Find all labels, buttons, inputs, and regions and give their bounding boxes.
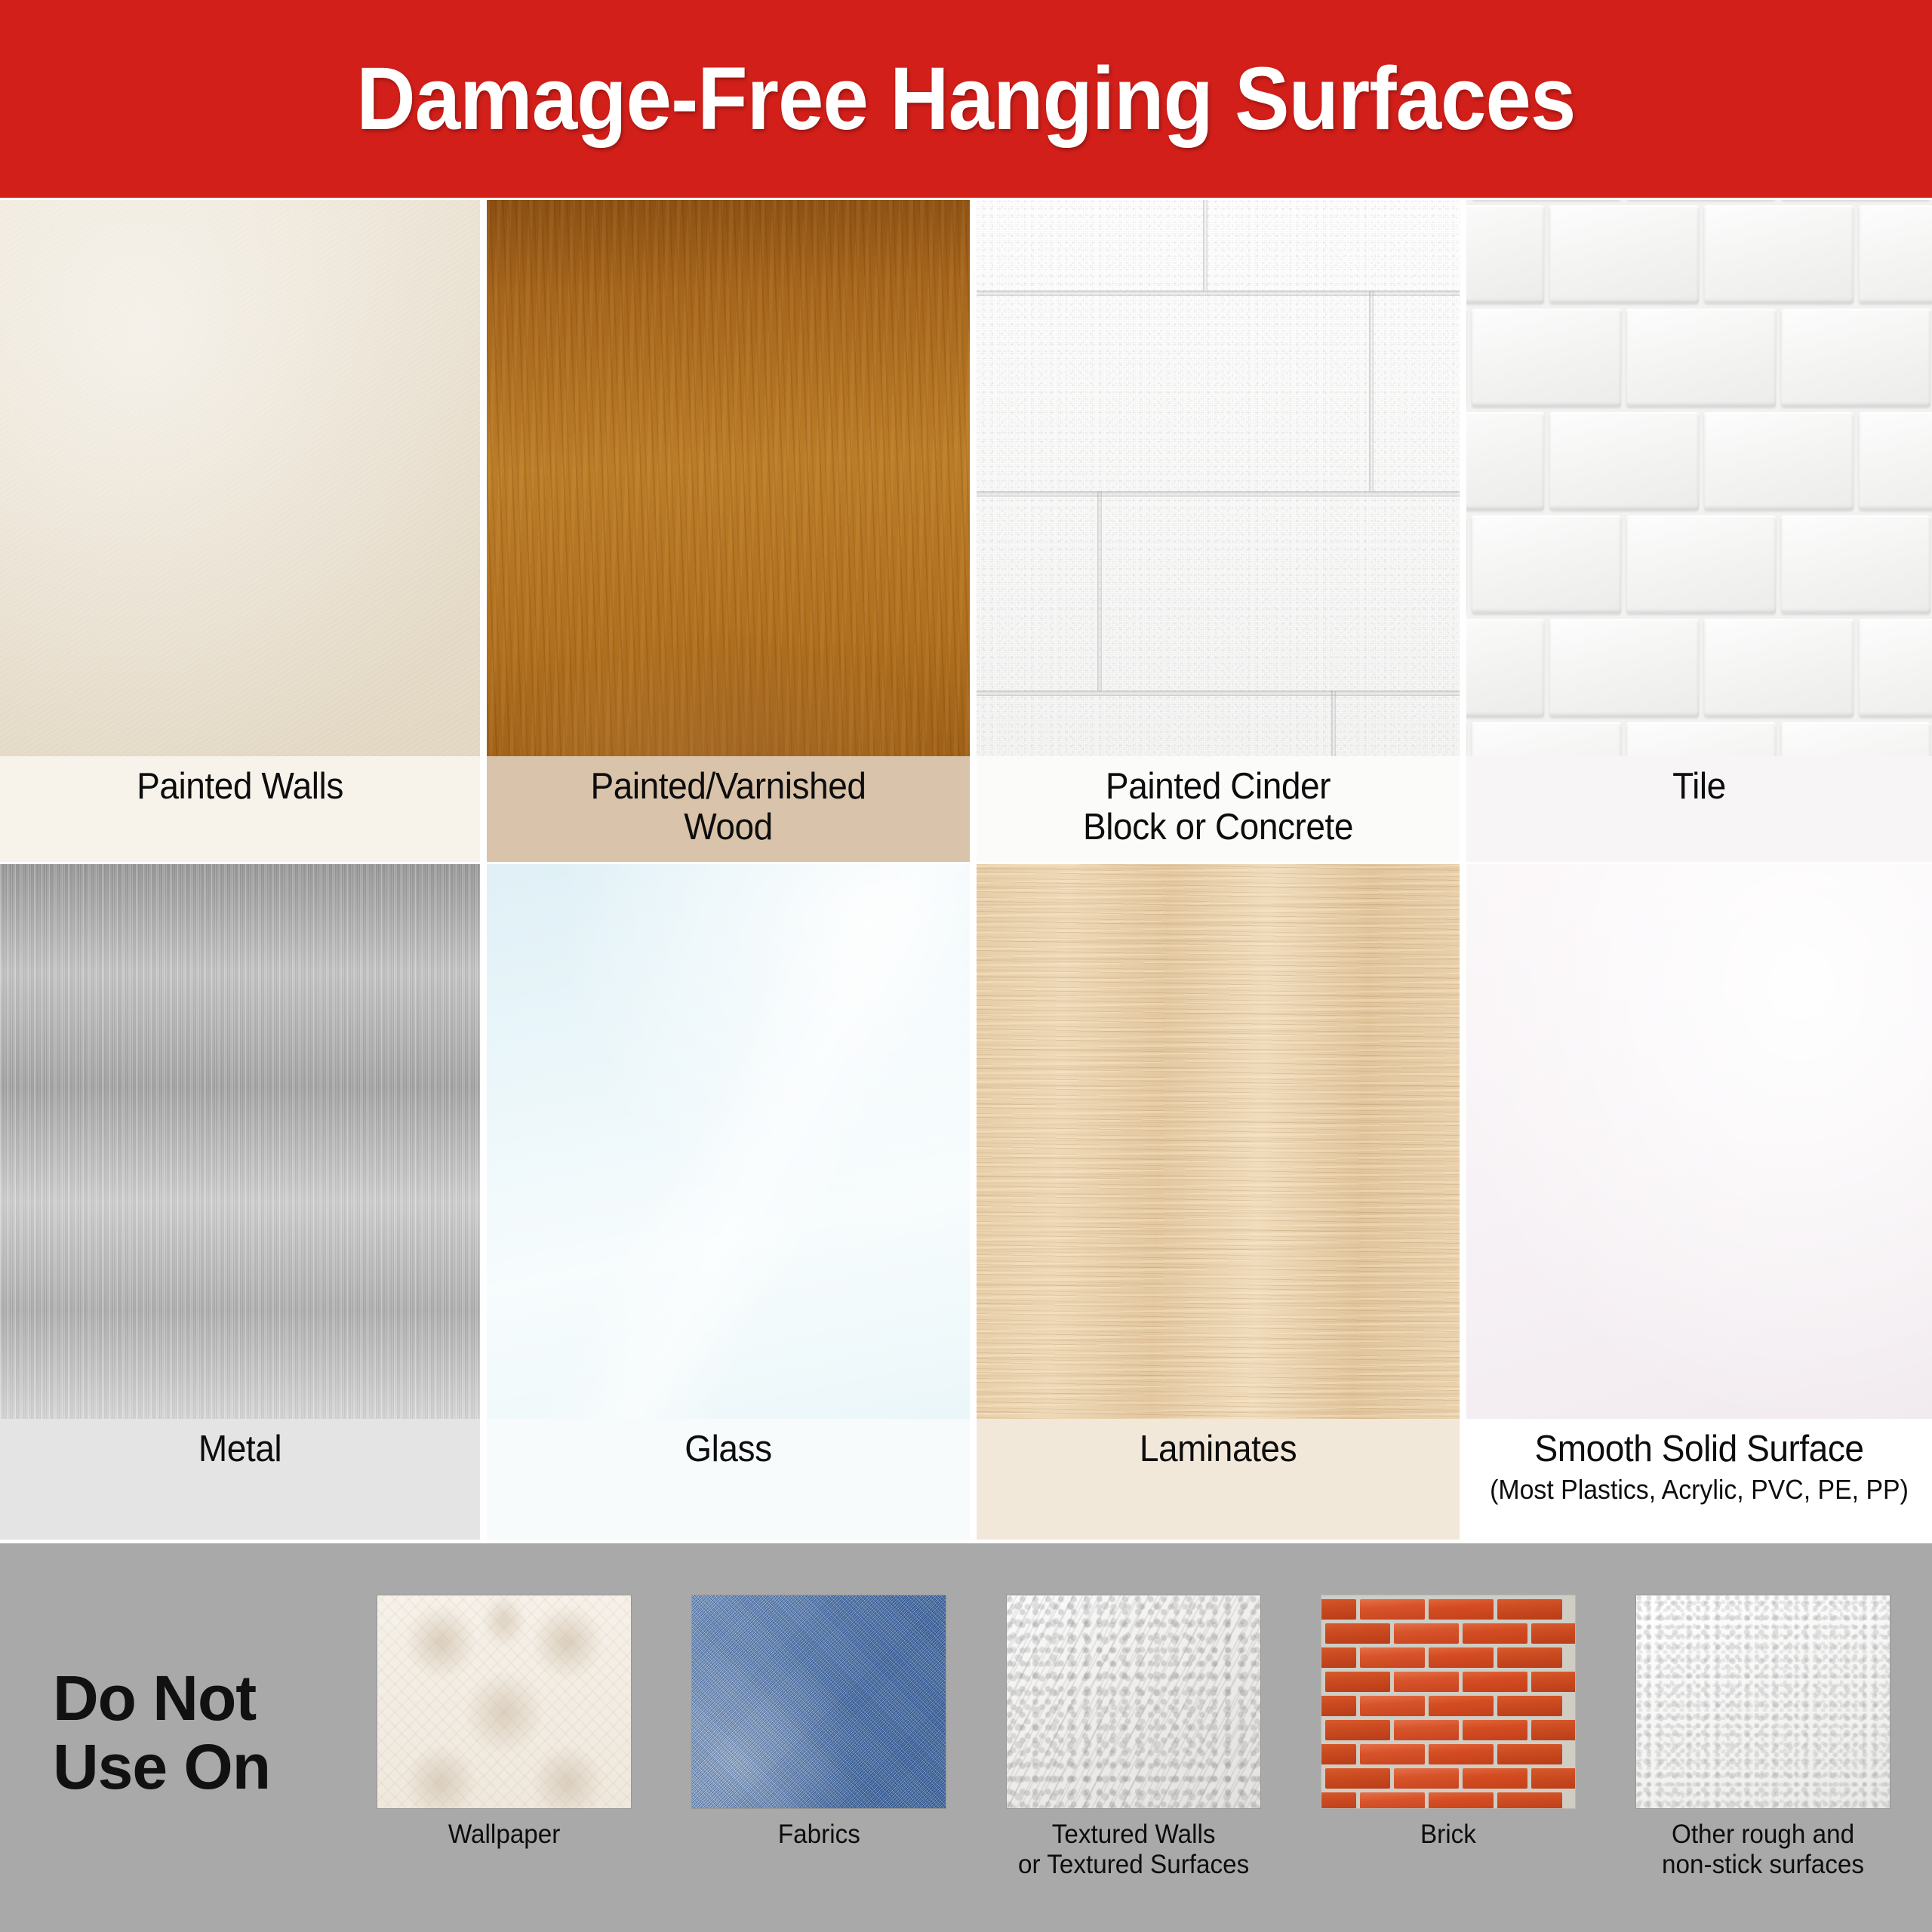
surface-card-painted-varnished-wood: Painted/Varnished Wood (487, 200, 970, 862)
surface-card-painted-walls: Painted Walls (0, 200, 480, 862)
textured-walls-swatch (1006, 1595, 1261, 1809)
item-label-line-1: Other rough and (1662, 1820, 1864, 1850)
red-brick-texture (1321, 1595, 1575, 1808)
surface-card-glass: Glass (487, 864, 970, 1540)
surface-caption: Smooth Solid Surface (Most Plastics, Acr… (1466, 1419, 1932, 1540)
header-banner: Damage-Free Hanging Surfaces (0, 0, 1932, 198)
item-label-line-2: non-stick surfaces (1662, 1850, 1864, 1880)
item-caption: Textured Walls or Textured Surfaces (1018, 1820, 1249, 1880)
approved-surfaces-row-2: Metal Glass Laminates Smooth Solid Surfa… (0, 864, 1932, 1540)
do-not-use-heading-line-1: Do Not (53, 1664, 270, 1733)
surface-caption: Laminates (977, 1419, 1460, 1540)
item-caption: Fabrics (777, 1820, 860, 1850)
page-title: Damage-Free Hanging Surfaces (356, 48, 1575, 150)
do-not-use-section: Do Not Use On Wallpaper Fabrics (0, 1543, 1932, 1932)
surface-sublabel: (Most Plastics, Acrylic, PVC, PE, PP) (1486, 1475, 1912, 1505)
surface-caption: Painted Cinder Block or Concrete (977, 756, 1460, 862)
fabrics-swatch (691, 1595, 946, 1809)
surface-label: Glass (507, 1429, 950, 1470)
brick-swatch (1321, 1595, 1576, 1809)
surface-card-metal: Metal (0, 864, 480, 1540)
do-not-use-item-wallpaper: Wallpaper (371, 1595, 637, 1919)
surface-label: Tile (1486, 767, 1912, 808)
surface-card-laminates: Laminates (977, 864, 1460, 1540)
do-not-use-item-textured-walls: Textured Walls or Textured Surfaces (1001, 1595, 1266, 1919)
item-caption: Wallpaper (448, 1820, 560, 1850)
item-label-line-2: or Textured Surfaces (1018, 1850, 1249, 1880)
surface-label-line-2: Wood (507, 808, 950, 848)
do-not-use-item-brick: Brick (1315, 1595, 1581, 1919)
damask-wallpaper-texture (377, 1595, 631, 1808)
rough-non-stick-texture (1636, 1595, 1890, 1808)
wallpaper-swatch (377, 1595, 632, 1809)
surface-caption: Metal (0, 1419, 480, 1540)
surface-card-smooth-solid-surface: Smooth Solid Surface (Most Plastics, Acr… (1466, 864, 1932, 1540)
item-label-line-1: Brick (1420, 1820, 1476, 1850)
rough-surfaces-swatch (1635, 1595, 1890, 1809)
surface-caption: Glass (487, 1419, 970, 1540)
item-label-line-1: Wallpaper (448, 1820, 560, 1850)
approved-surfaces-row-1: Painted Walls Painted/Varnished Wood (0, 200, 1932, 862)
surface-label-line-2: Block or Concrete (997, 808, 1440, 848)
surface-label: Painted Cinder (997, 767, 1440, 808)
surface-label: Laminates (997, 1429, 1440, 1470)
item-label-line-1: Textured Walls (1018, 1820, 1249, 1850)
do-not-use-items: Wallpaper Fabrics Textured Walls or Text… (371, 1595, 1896, 1919)
item-caption: Other rough and non-stick surfaces (1662, 1820, 1864, 1880)
surface-card-painted-cinder-block: Painted Cinder Block or Concrete (977, 200, 1460, 862)
surface-caption: Painted Walls (0, 756, 480, 862)
do-not-use-heading-line-2: Use On (53, 1733, 270, 1801)
surface-label: Painted Walls (20, 767, 460, 808)
surface-label: Painted/Varnished (507, 767, 950, 808)
do-not-use-heading: Do Not Use On (53, 1664, 270, 1801)
do-not-use-item-fabrics: Fabrics (686, 1595, 952, 1919)
item-caption: Brick (1420, 1820, 1476, 1850)
denim-fabric-texture (692, 1595, 946, 1808)
infographic-page: Damage-Free Hanging Surfaces Painted Wal… (0, 0, 1932, 1932)
surface-caption: Tile (1466, 756, 1932, 862)
surface-caption: Painted/Varnished Wood (487, 756, 970, 862)
surface-label: Smooth Solid Surface (1486, 1429, 1912, 1470)
surface-card-tile: Tile (1466, 200, 1932, 862)
do-not-use-item-other-rough: Other rough and non-stick surfaces (1630, 1595, 1896, 1919)
item-label-line-1: Fabrics (777, 1820, 860, 1850)
approved-surfaces-grid: Painted Walls Painted/Varnished Wood (0, 200, 1932, 1542)
surface-label: Metal (20, 1429, 460, 1470)
stucco-texture (1007, 1595, 1260, 1808)
